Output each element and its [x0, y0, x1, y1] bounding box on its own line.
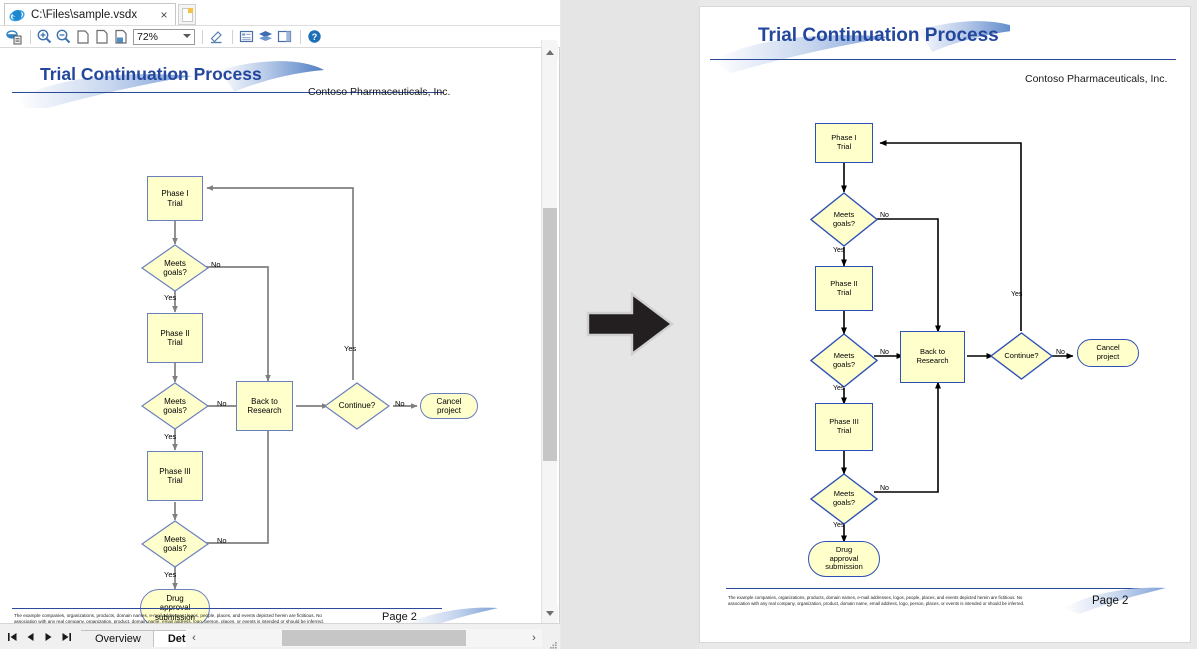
- browser-tab[interactable]: C:\Files\sample.vsdx ×: [4, 3, 176, 25]
- edge-label-dec2-yes: Yes: [164, 432, 176, 441]
- node-drug-approval-right-label: Drugapprovalsubmission: [825, 546, 863, 572]
- node-phase3-label: Phase IIITrial: [159, 467, 191, 485]
- node-continue-right-label: Continue?: [1004, 352, 1038, 361]
- node-decision3-label: Meetsgoals?: [163, 535, 187, 553]
- node-decision1-label: Meetsgoals?: [163, 259, 187, 277]
- edge-label-dec3-no: No: [217, 536, 227, 545]
- toolbar-divider-3: [232, 30, 233, 44]
- pages-button[interactable]: [276, 28, 293, 45]
- node-continue-label: Continue?: [339, 401, 375, 410]
- node-phase1-label: Phase ITrial: [161, 189, 188, 207]
- zoom-out-button[interactable]: [55, 28, 72, 45]
- node-continue[interactable]: Continue?: [324, 382, 390, 430]
- viewer-toolbar: 72%: [0, 26, 560, 48]
- chevron-down-icon[interactable]: [183, 34, 191, 38]
- sheet-tab-overview[interactable]: Overview: [81, 630, 154, 647]
- flowchart-left: Phase ITrial Meetsgoals? Phase IITrial: [12, 48, 524, 623]
- fit-page-button[interactable]: [74, 28, 91, 45]
- document-page-right: Trial Continuation Process Contoso Pharm…: [700, 7, 1190, 642]
- right-arrow-graphic: [585, 288, 675, 360]
- edge-label-dec2-no-right: No: [880, 349, 889, 356]
- scroll-left-button[interactable]: ‹: [186, 630, 202, 646]
- flowchart-right: Phase ITrial Meetsgoals? Phase IITrial M…: [700, 7, 1190, 642]
- svg-text:?: ?: [312, 32, 318, 42]
- node-decision2[interactable]: Meetsgoals?: [141, 382, 209, 430]
- ie-logo-icon: [9, 7, 25, 23]
- node-phase1[interactable]: Phase ITrial: [147, 176, 203, 221]
- transform-arrow-panel: [561, 0, 699, 649]
- document-page-left: Trial Continuation Process Contoso Pharm…: [12, 48, 524, 623]
- footer-rule: [12, 608, 442, 609]
- node-drug-approval-right[interactable]: Drugapprovalsubmission: [808, 541, 880, 577]
- scroll-down-button[interactable]: [542, 605, 558, 621]
- horizontal-scroll-thumb[interactable]: [282, 630, 466, 646]
- node-phase1-right[interactable]: Phase ITrial: [815, 123, 873, 163]
- node-decision3-right-label: Meetsgoals?: [833, 490, 855, 507]
- scroll-up-button[interactable]: [542, 44, 558, 60]
- edge-label-cont-no: No: [395, 399, 405, 408]
- viewer-status-bar: Overview Detail ‹ ›: [0, 623, 560, 649]
- open-file-button[interactable]: [6, 28, 23, 45]
- vertical-scroll-thumb[interactable]: [543, 208, 557, 461]
- node-phase2-right-label: Phase IITrial: [830, 280, 858, 297]
- resize-grip-icon[interactable]: [548, 637, 558, 647]
- node-cancel-project[interactable]: Cancelproject: [420, 393, 478, 419]
- vertical-scrollbar[interactable]: [541, 40, 557, 623]
- browser-tab-strip: C:\Files\sample.vsdx ×: [0, 0, 560, 26]
- node-phase3-right[interactable]: Phase IIITrial: [815, 403, 873, 451]
- footer-disclaimer-right: The example companies, organizations, pr…: [728, 595, 1058, 607]
- zoom-in-button[interactable]: [36, 28, 53, 45]
- edge-label-dec1-no-right: No: [880, 212, 889, 219]
- previous-page-button[interactable]: [23, 629, 38, 645]
- footer-disclaimer-right-line2: association with any real company, organ…: [728, 601, 1058, 607]
- close-icon[interactable]: ×: [157, 8, 171, 22]
- first-page-button[interactable]: [5, 629, 20, 645]
- edge-label-dec1-no: No: [211, 260, 221, 269]
- actual-size-button[interactable]: [93, 28, 110, 45]
- node-back-to-research-label: Back toResearch: [247, 397, 281, 415]
- page-number-label-right: Page 2: [1092, 595, 1128, 607]
- edge-label-cont-yes: Yes: [344, 344, 356, 353]
- footer-rule-right: [726, 588, 1158, 589]
- node-phase2[interactable]: Phase IITrial: [147, 313, 203, 363]
- page-navigation-buttons: [0, 629, 77, 645]
- tab-title: C:\Files\sample.vsdx: [31, 9, 157, 21]
- horizontal-scroll-track[interactable]: [202, 630, 526, 646]
- flowchart-connectors-right: [700, 7, 1192, 644]
- node-decision2-right[interactable]: Meetsgoals?: [810, 333, 878, 388]
- edge-label-dec2-yes-right: Yes: [833, 385, 844, 392]
- horizontal-scrollbar[interactable]: ‹ ›: [186, 629, 542, 647]
- node-phase1-right-label: Phase ITrial: [831, 134, 856, 151]
- flowchart-connectors: [12, 48, 524, 623]
- edge-label-cont-yes-right: Yes: [1011, 291, 1022, 298]
- zoom-level-combobox[interactable]: 72%: [133, 29, 195, 45]
- node-back-to-research-right-label: Back toResearch: [916, 348, 948, 365]
- result-panel: Trial Continuation Process Contoso Pharm…: [699, 6, 1191, 643]
- edge-label-dec1-yes: Yes: [164, 293, 176, 302]
- edge-label-dec3-yes-right: Yes: [833, 522, 844, 529]
- node-phase3[interactable]: Phase IIITrial: [147, 451, 203, 501]
- node-cancel-project-right[interactable]: Cancelproject: [1077, 339, 1139, 367]
- zoom-level-value: 72%: [134, 31, 158, 43]
- edge-label-cont-no-right: No: [1056, 349, 1065, 356]
- node-phase2-right[interactable]: Phase IITrial: [815, 266, 873, 311]
- node-decision3-right[interactable]: Meetsgoals?: [810, 473, 878, 525]
- edge-label-dec3-no-right: No: [880, 485, 889, 492]
- edge-label-dec2-no: No: [217, 399, 227, 408]
- properties-button[interactable]: [238, 28, 255, 45]
- scroll-right-button[interactable]: ›: [526, 630, 542, 646]
- page-number-label: Page 2: [382, 611, 417, 623]
- document-canvas[interactable]: Trial Continuation Process Contoso Pharm…: [0, 48, 541, 623]
- node-continue-right[interactable]: Continue?: [990, 332, 1053, 380]
- node-cancel-project-right-label: Cancelproject: [1096, 344, 1119, 361]
- node-back-to-research[interactable]: Back toResearch: [236, 381, 293, 431]
- last-page-button[interactable]: [59, 629, 74, 645]
- node-decision2-label: Meetsgoals?: [163, 397, 187, 415]
- layers-button[interactable]: [257, 28, 274, 45]
- next-page-button[interactable]: [41, 629, 56, 645]
- edge-label-dec1-yes-right: Yes: [833, 247, 844, 254]
- screenshot-root: C:\Files\sample.vsdx ×: [0, 0, 1197, 649]
- node-decision3[interactable]: Meetsgoals?: [141, 520, 209, 568]
- new-tab-button[interactable]: [178, 4, 196, 25]
- node-decision1-right-label: Meetsgoals?: [833, 211, 855, 228]
- toolbar-divider: [30, 30, 31, 44]
- pan-tool-button[interactable]: [208, 28, 225, 45]
- node-phase2-label: Phase IITrial: [160, 329, 189, 347]
- node-decision1-right[interactable]: Meetsgoals?: [810, 192, 878, 247]
- help-button[interactable]: ?: [306, 28, 323, 45]
- footer-disclaimer: The example companies, organizations, pr…: [14, 613, 354, 623]
- node-decision2-right-label: Meetsgoals?: [833, 352, 855, 369]
- edge-label-dec3-yes: Yes: [164, 570, 176, 579]
- node-decision1[interactable]: Meetsgoals?: [141, 244, 209, 292]
- node-phase3-right-label: Phase IIITrial: [829, 418, 859, 435]
- node-cancel-project-label: Cancelproject: [437, 397, 462, 415]
- toolbar-divider-2: [202, 30, 203, 44]
- node-back-to-research-right[interactable]: Back toResearch: [900, 331, 965, 383]
- visio-viewer-window: C:\Files\sample.vsdx ×: [0, 0, 560, 649]
- fit-width-button[interactable]: [112, 28, 129, 45]
- toolbar-divider-4: [300, 30, 301, 44]
